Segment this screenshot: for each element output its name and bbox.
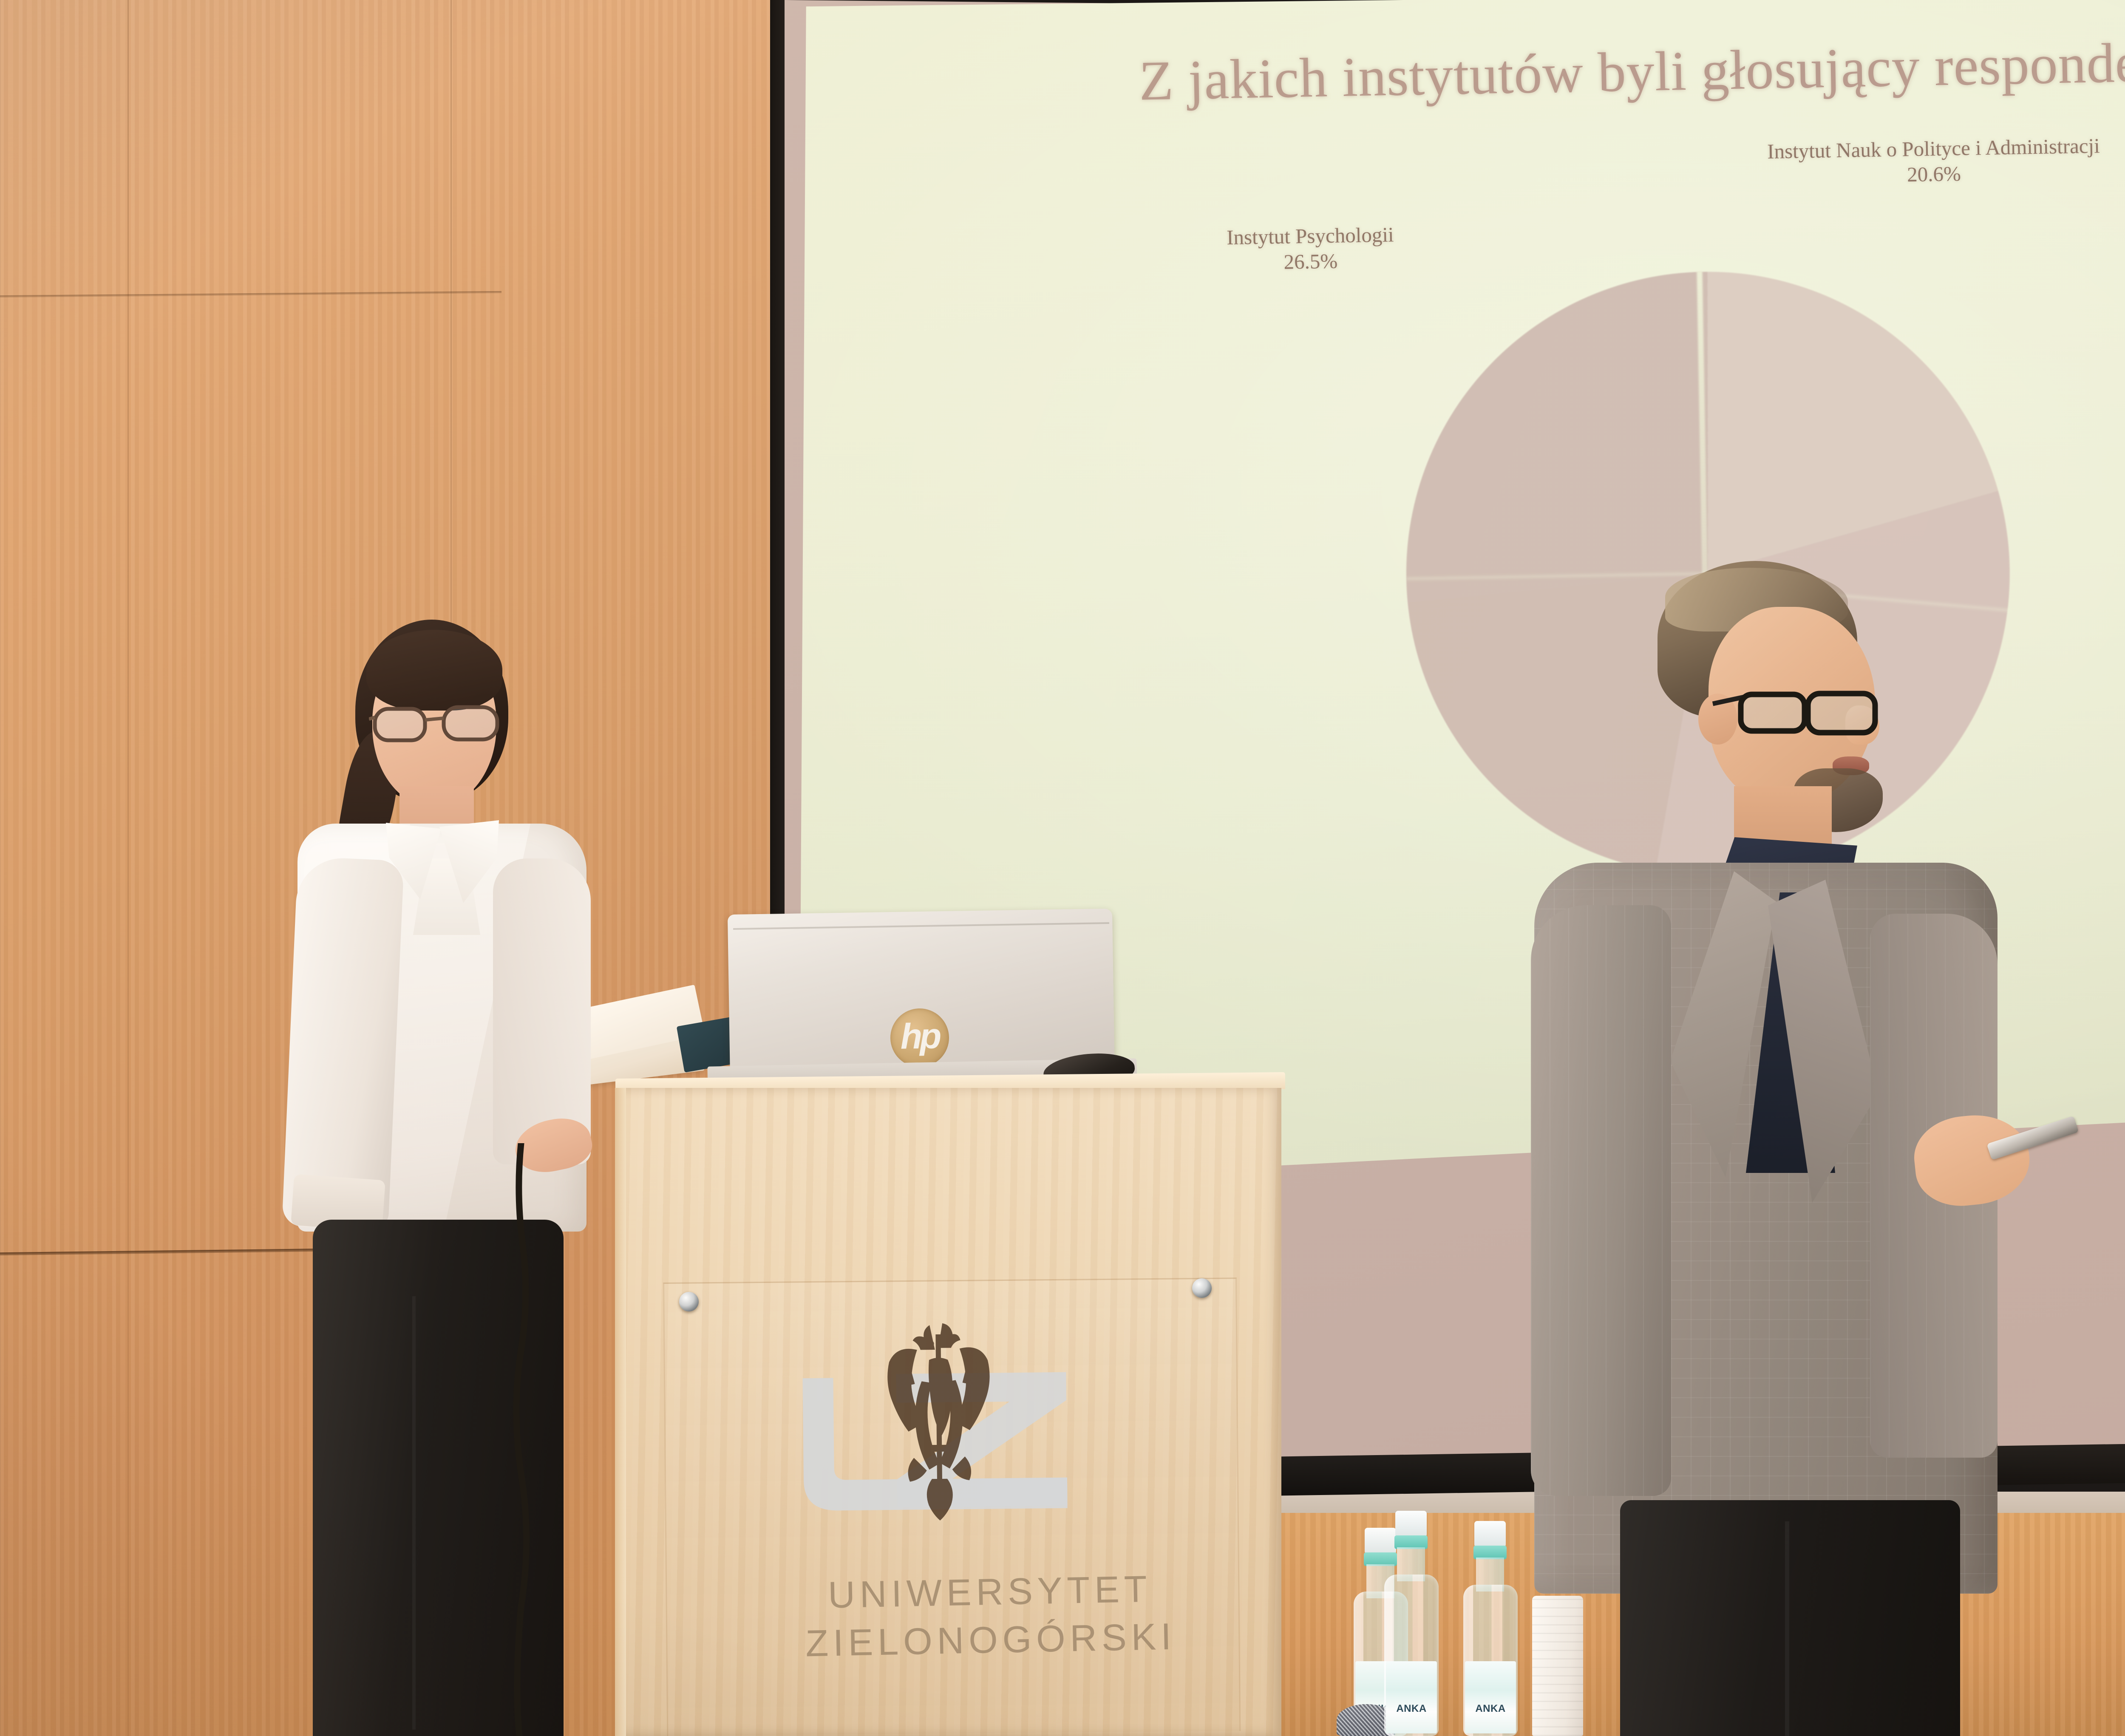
- operator-trousers-fold: [412, 1296, 416, 1730]
- lectern-fastener-left: [679, 1292, 699, 1311]
- speaker-trousers: [1620, 1500, 1960, 1736]
- laptop[interactable]: hp: [725, 907, 1118, 1086]
- water-bottle: ANKA: [1463, 1521, 1518, 1736]
- slide-title: Z jakich instytutów byli głosujący respo…: [858, 23, 2125, 118]
- pie-label-polityka: Instytut Nauk o Polityce i Administracji…: [1615, 130, 2125, 193]
- speaker-hand-palm: [1910, 1110, 2034, 1210]
- paper-cup-stack: [1532, 1596, 1583, 1736]
- operator-arm-right: [493, 858, 591, 1164]
- speaker-blazer-sleeve-left: [1531, 905, 1671, 1496]
- speaker-trousers-seam: [1785, 1521, 1789, 1736]
- photo-scene: Z jakich instytutów byli głosujący respo…: [0, 0, 2125, 1736]
- eyeglasses-icon: [369, 702, 504, 745]
- bottle-label: ANKA: [1386, 1661, 1437, 1733]
- polish-eagle-crest-icon: [866, 1317, 1008, 1522]
- person-speaker-right: [1530, 557, 2125, 1736]
- lectern-text-line1: UNIWERSYTET: [739, 1563, 1241, 1621]
- eyeglasses-icon: [1708, 684, 1886, 744]
- microphone-cable: [510, 1143, 530, 1736]
- pie-label-psychologia: Instytut Psychologii 26.5%: [1055, 219, 1566, 278]
- water-bottle-group: ANKA ANKA ANKA: [1354, 1507, 1575, 1736]
- bottle-label-text: ANKA: [1386, 1703, 1437, 1715]
- speaker-hand: [1910, 1110, 2034, 1210]
- university-logo: [768, 1350, 1102, 1532]
- hp-logo-text: hp: [900, 1018, 939, 1054]
- bottle-cap: [1395, 1511, 1427, 1537]
- bottle-label-text: ANKA: [1465, 1703, 1516, 1715]
- bottle-cap: [1474, 1521, 1506, 1547]
- lectern-left-edge: [615, 1088, 626, 1736]
- wood-panel-seam: [127, 0, 129, 1736]
- water-bottle: ANKA: [1384, 1511, 1439, 1736]
- lectern-fastener-right: [1192, 1278, 1212, 1298]
- lectern-text-line2: ZIELONOGÓRSKI: [739, 1611, 1242, 1668]
- operator-hair-front: [366, 630, 502, 711]
- lectern-university-name: UNIWERSYTET ZIELONOGÓRSKI: [739, 1563, 1242, 1669]
- bottle-label: ANKA: [1465, 1661, 1516, 1733]
